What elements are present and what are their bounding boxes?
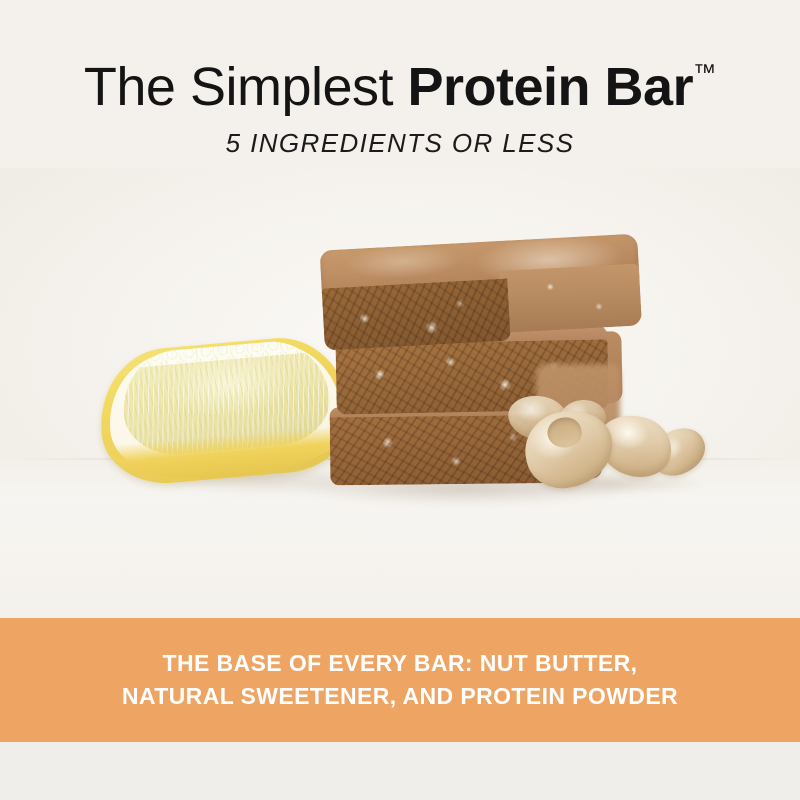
protein-bar-top bbox=[320, 233, 643, 350]
trademark-symbol: ™ bbox=[693, 59, 716, 85]
product-photo bbox=[0, 168, 800, 618]
bar-smooth-end bbox=[499, 263, 642, 332]
base-ingredients-banner: THE BASE OF EVERY BAR: NUT BUTTER, NATUR… bbox=[0, 618, 800, 742]
footer-plate bbox=[0, 742, 800, 800]
header: The Simplest Protein Bar™ 5 INGREDIENTS … bbox=[0, 0, 800, 185]
page-title: The Simplest Protein Bar™ bbox=[0, 50, 800, 115]
headline-bold-part: Protein Bar bbox=[408, 57, 694, 117]
subtitle: 5 INGREDIENTS OR LESS bbox=[0, 127, 800, 159]
protein-bar-stack bbox=[0, 168, 800, 618]
product-banner-canvas: The Simplest Protein Bar™ 5 INGREDIENTS … bbox=[0, 0, 800, 800]
banner-line-2: NATURAL SWEETENER, AND PROTEIN POWDER bbox=[122, 680, 678, 713]
bar-cross-section bbox=[322, 279, 511, 351]
banner-line-1: THE BASE OF EVERY BAR: NUT BUTTER, bbox=[163, 647, 638, 680]
headline-light-part: The Simplest bbox=[84, 57, 408, 117]
